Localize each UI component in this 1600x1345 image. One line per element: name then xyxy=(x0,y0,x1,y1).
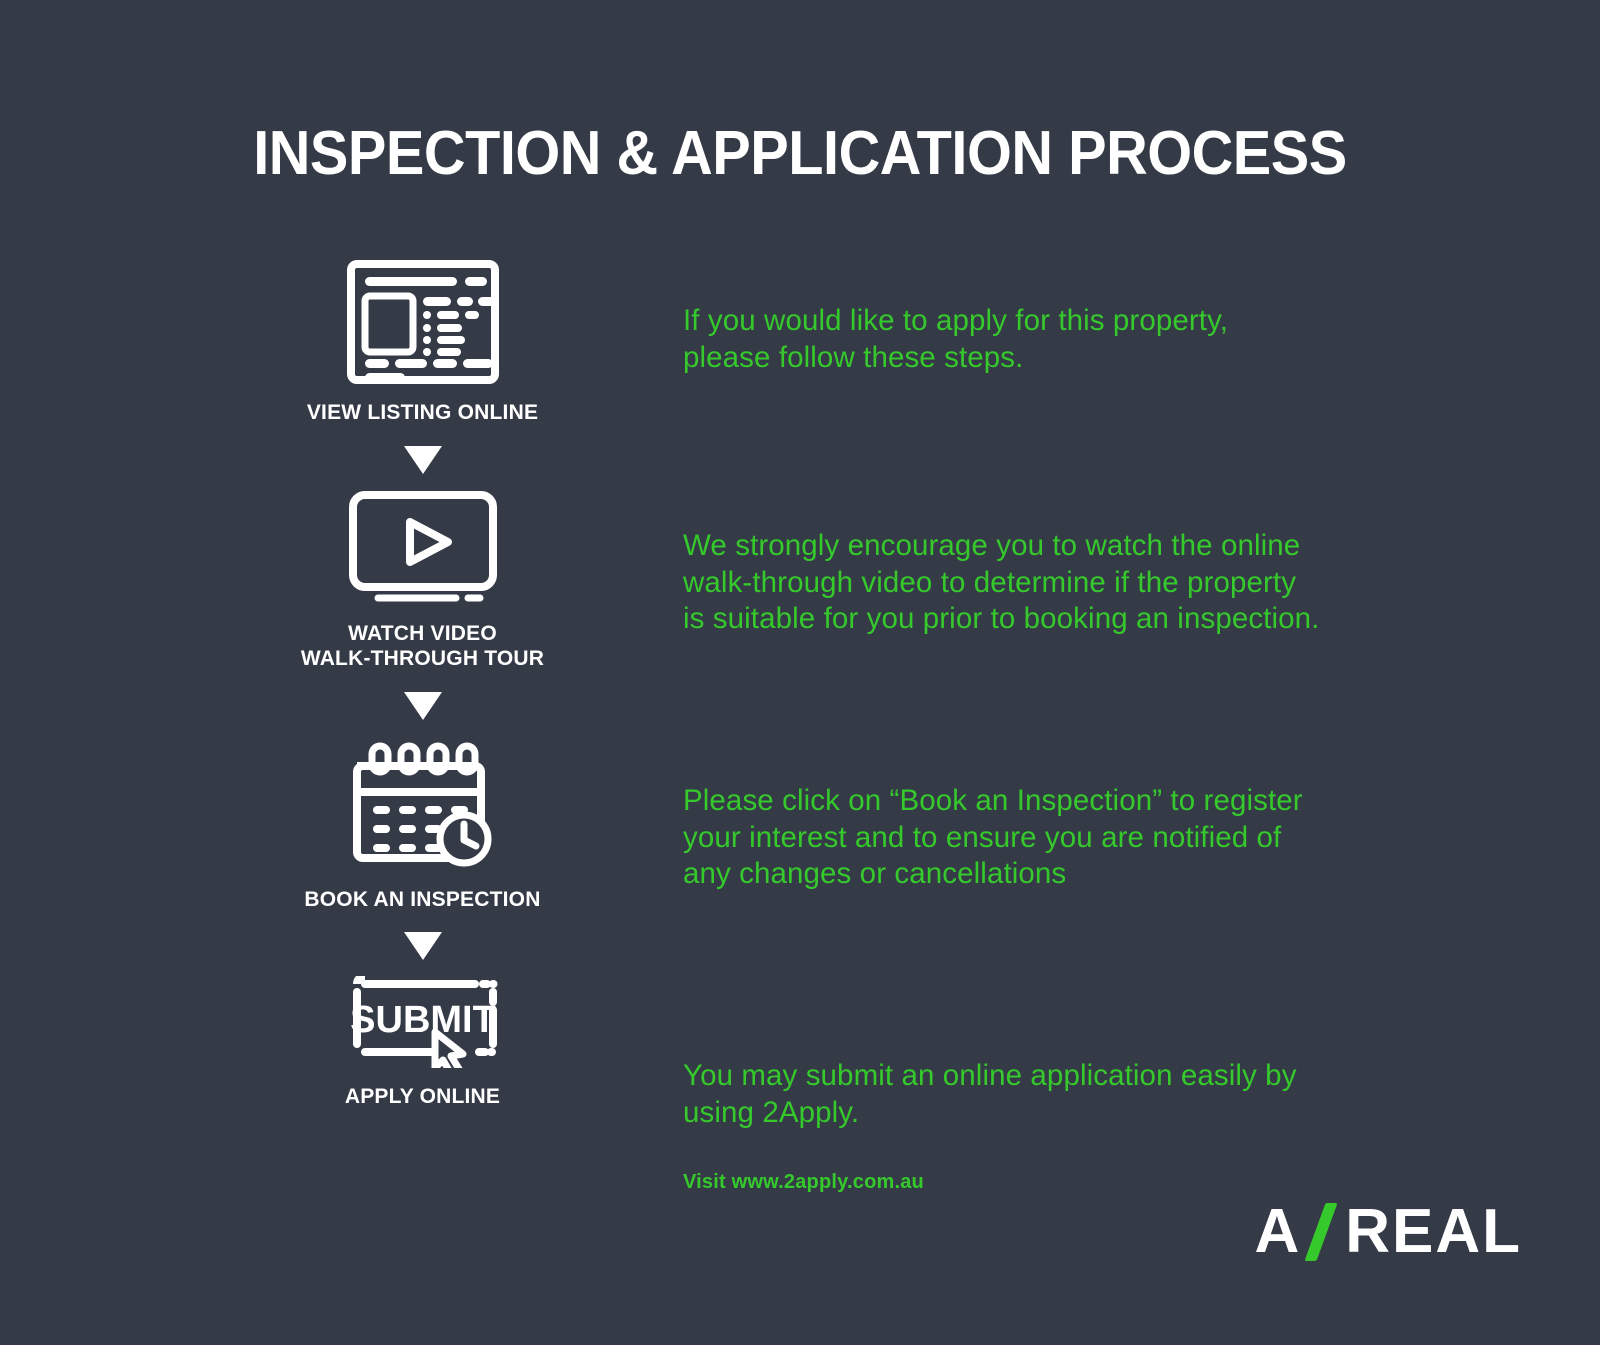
triangle-down-icon xyxy=(404,446,442,474)
step-watch-video-walkthrough: WATCH VIDEO WALK-THROUGH TOUR xyxy=(230,490,615,672)
submit-button-cursor-icon: SUBMIT xyxy=(230,976,615,1068)
step-book-an-inspection: BOOK AN INSPECTION xyxy=(230,736,615,913)
step-label: APPLY ONLINE xyxy=(230,1084,615,1110)
triangle-down-icon xyxy=(404,692,442,720)
visit-url-link[interactable]: Visit www.2apply.com.au xyxy=(683,1171,1297,1194)
video-play-screen-icon xyxy=(230,490,615,605)
calendar-clock-icon xyxy=(230,736,615,871)
submit-button-text: SUBMIT xyxy=(350,999,496,1041)
triangle-down-icon xyxy=(404,932,442,960)
description-block-4: You may submit an online application eas… xyxy=(683,1058,1297,1194)
step-label: BOOK AN INSPECTION xyxy=(230,887,615,913)
infographic-page: INSPECTION & APPLICATION PROCESS xyxy=(0,0,1600,1345)
description-block-1: If you would like to apply for this prop… xyxy=(683,303,1228,376)
step-label: VIEW LISTING ONLINE xyxy=(230,400,615,426)
logo-letter-a: A xyxy=(1254,1196,1301,1267)
description-block-3: Please click on “Book an Inspection” to … xyxy=(683,783,1303,893)
steps-flow: VIEW LISTING ONLINE WATCH VIDEO WALK-THR… xyxy=(230,260,615,1110)
step-view-listing-online: VIEW LISTING ONLINE xyxy=(230,260,615,426)
step-apply-online: SUBMIT APPLY ONLINE xyxy=(230,976,615,1110)
description-text: Please click on “Book an Inspection” to … xyxy=(683,783,1303,893)
browser-listing-icon xyxy=(230,260,615,384)
step-label: WATCH VIDEO WALK-THROUGH TOUR xyxy=(230,621,615,672)
logo-word-real: REAL xyxy=(1345,1196,1522,1267)
description-text: You may submit an online application eas… xyxy=(683,1058,1297,1131)
brand-logo: A REAL xyxy=(1254,1196,1522,1267)
logo-slash-icon xyxy=(1305,1203,1338,1261)
page-title: INSPECTION & APPLICATION PROCESS xyxy=(56,118,1544,189)
description-text: We strongly encourage you to watch the o… xyxy=(683,528,1319,638)
description-text: If you would like to apply for this prop… xyxy=(683,303,1228,376)
description-block-2: We strongly encourage you to watch the o… xyxy=(683,528,1319,638)
